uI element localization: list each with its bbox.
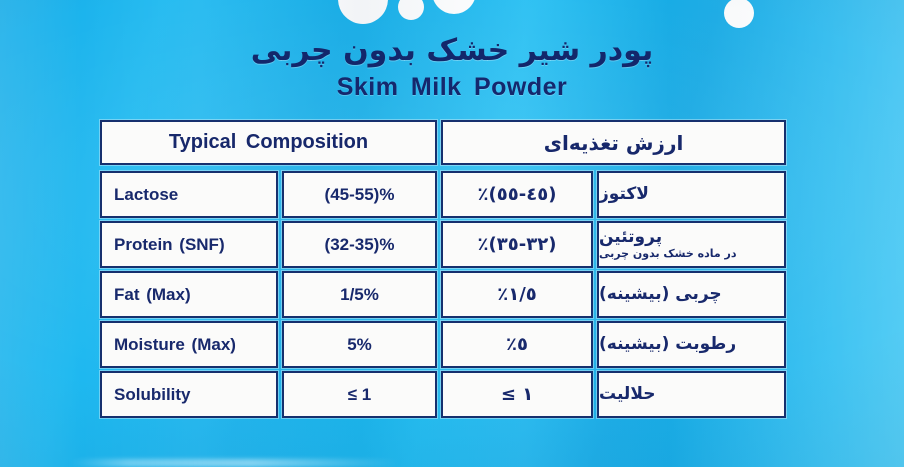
cell-persian-name: حلالیت (597, 371, 786, 418)
persian-name-main: حلالیت (599, 385, 655, 404)
persian-name-main: چربی (بیشینه) (599, 285, 722, 304)
cell-english-value: 1/5% (282, 271, 437, 318)
cell-english-name: Protein (SNF) (100, 221, 278, 268)
table-header-row: Typical Composition ارزش تغذیه‌ای (100, 120, 786, 165)
cell-english-name: Lactose (100, 171, 278, 218)
table-header-persian: ارزش تغذیه‌ای (441, 120, 786, 165)
cell-persian-name: چربی (بیشینه) (597, 271, 786, 318)
nutrition-table: Typical Composition ارزش تغذیه‌ای Lactos… (100, 120, 786, 406)
cell-persian-name: پروتئیندر ماده خشک بدون چربی (597, 221, 786, 268)
table-row: Moisture (Max)5%٥٪رطوبت (بیشینه) (100, 321, 786, 368)
package-bottom-highlight (70, 459, 400, 467)
cell-persian-name: لاکتوز (597, 171, 786, 218)
cell-persian-value: ٥٪ (441, 321, 593, 368)
cell-english-name: Solubility (100, 371, 278, 418)
table-row: Lactose(45-55)%(٤٥-٥٥)٪لاکتوز (100, 171, 786, 218)
cell-english-name: Fat (Max) (100, 271, 278, 318)
cell-persian-value: ١/٥٪ (441, 271, 593, 318)
table-row: Fat (Max)1/5%١/٥٪چربی (بیشینه) (100, 271, 786, 318)
persian-name-main: پروتئین (599, 228, 662, 247)
product-title-english: Skim Milk Powder (0, 73, 904, 102)
cell-english-value: (32-35)% (282, 221, 437, 268)
cell-persian-name: رطوبت (بیشینه) (597, 321, 786, 368)
milk-droplet-icon (432, 0, 476, 14)
persian-name-main: رطوبت (بیشینه) (599, 335, 736, 354)
cell-persian-value: (٣٢-٣٥)٪ (441, 221, 593, 268)
milk-powder-package-label: پودر شیر خشک بدون چربی Skim Milk Powder … (0, 0, 904, 467)
product-title-persian: پودر شیر خشک بدون چربی (0, 34, 904, 69)
table-header-english: Typical Composition (100, 120, 437, 165)
product-title-block: پودر شیر خشک بدون چربی Skim Milk Powder (0, 34, 904, 102)
cell-persian-value: ١ ≥ (441, 371, 593, 418)
cell-persian-value: (٤٥-٥٥)٪ (441, 171, 593, 218)
persian-name-subtitle: در ماده خشک بدون چربی (599, 248, 737, 261)
cell-english-value: (45-55)% (282, 171, 437, 218)
milk-droplet-icon (398, 0, 424, 20)
cell-english-name: Moisture (Max) (100, 321, 278, 368)
cell-english-value: ≤ 1 (282, 371, 437, 418)
persian-name-main: لاکتوز (599, 185, 649, 204)
milk-droplet-icon (338, 0, 388, 24)
table-body: Lactose(45-55)%(٤٥-٥٥)٪لاکتوزProtein (SN… (100, 168, 786, 418)
milk-droplet-icon (724, 0, 754, 28)
table-row: Solubility≤ 1١ ≥حلالیت (100, 371, 786, 418)
cell-english-value: 5% (282, 321, 437, 368)
table-row: Protein (SNF)(32-35)%(٣٢-٣٥)٪پروتئیندر م… (100, 221, 786, 268)
